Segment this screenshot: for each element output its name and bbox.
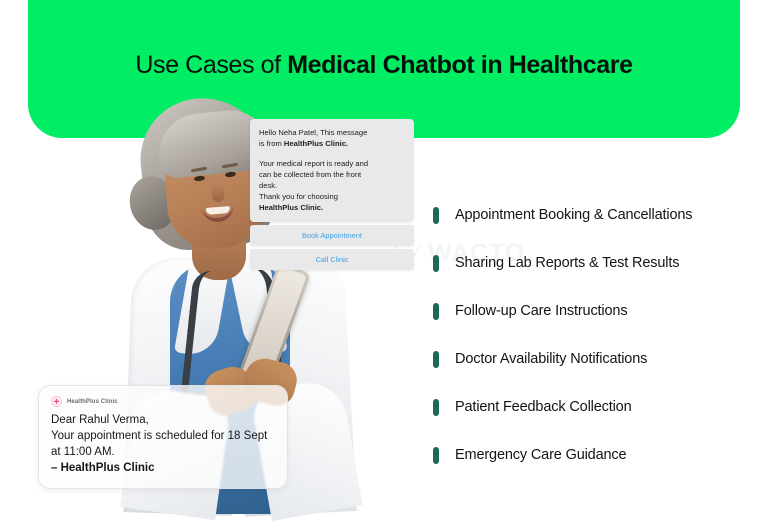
sms-card-header: HealthPlus Clinic [51,396,275,407]
list-item-label: Sharing Lab Reports & Test Results [455,255,679,271]
page-title-bold: Medical Chatbot in Healthcare [287,51,632,79]
list-item-label: Emergency Care Guidance [455,447,626,463]
chat-body-line1: Your medical report is ready and [259,158,405,169]
list-item: Sharing Lab Reports & Test Results [433,252,753,274]
bullet-icon [433,351,439,368]
list-item: Patient Feedback Collection [433,396,753,418]
bullet-icon [433,255,439,272]
page-title: Use Cases of Medical Chatbot in Healthca… [28,48,740,82]
chat-greeting-brand: HealthPlus Clinic. [284,139,348,148]
chat-body-line3: desk. [259,180,405,191]
bullet-icon [433,399,439,416]
sms-notification-card: HealthPlus Clinic Dear Rahul Verma, Your… [38,385,288,489]
sms-body: Dear Rahul Verma, Your appointment is sc… [51,412,275,476]
sms-line-1: Dear Rahul Verma, [51,412,275,428]
list-item-label: Patient Feedback Collection [455,399,632,415]
chat-message-bubble: Hello Neha Patel, This message is from H… [250,119,414,222]
list-item: Follow-up Care Instructions [433,300,753,322]
bullet-icon [433,447,439,464]
sms-line-2: Your appointment is scheduled for 18 Sep… [51,428,275,444]
medical-cross-icon [51,396,62,407]
chat-greeting-line1: Hello Neha Patel, This message [259,127,405,138]
chat-greeting-line2: is from HealthPlus Clinic. [259,138,405,149]
bullet-icon [433,207,439,224]
chatbot-message-card: Hello Neha Patel, This message is from H… [250,119,414,270]
sms-signature: – HealthPlus Clinic [51,460,275,476]
sms-brand-label: HealthPlus Clinic [67,399,118,405]
nose [211,184,224,203]
page-title-light: Use Cases of [135,51,287,79]
list-item: Doctor Availability Notifications [433,348,753,370]
use-case-list: Appointment Booking & Cancellations Shar… [433,204,753,466]
call-clinic-button[interactable]: Call Clinic [250,249,414,270]
list-item-label: Doctor Availability Notifications [455,351,647,367]
medical-cross-glyph [53,398,60,405]
chat-paragraph-gap [259,149,405,158]
bullet-icon [433,303,439,320]
list-item-label: Follow-up Care Instructions [455,303,627,319]
chat-body-line2: can be collected from the front [259,169,405,180]
list-item: Emergency Care Guidance [433,444,753,466]
sms-line-3: at 11:00 AM. [51,444,275,460]
chat-body-brand-text: HealthPlus Clinic. [259,203,323,212]
list-item-label: Appointment Booking & Cancellations [455,207,692,223]
list-item: Appointment Booking & Cancellations [433,204,753,226]
chat-body-line4: Thank you for choosing [259,191,405,202]
chat-body-brand: HealthPlus Clinic. [259,202,405,213]
book-appointment-button[interactable]: Book Appointment [250,225,414,246]
chat-greeting-prefix: is from [259,139,284,148]
